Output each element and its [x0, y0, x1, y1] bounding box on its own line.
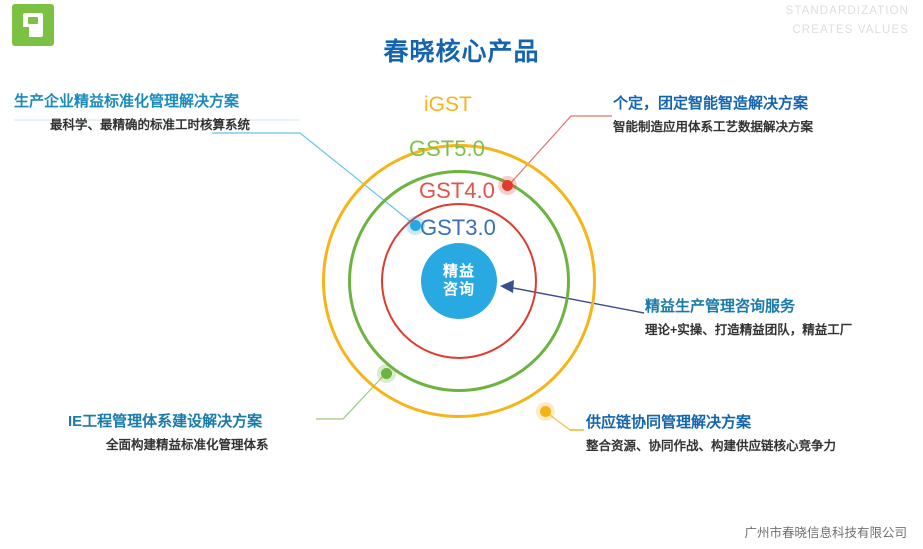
ring-label-gst4: GST4.0	[419, 178, 495, 204]
ring-label-igst: iGST	[424, 93, 472, 117]
callout-top-left[interactable]: 生产企业精益标准化管理解决方案 最科学、最精确的标准工时核算系统	[14, 92, 250, 135]
footer-company-name: 广州市春晓信息科技有限公司	[744, 522, 907, 541]
logo-p-counter	[28, 17, 38, 24]
callout-top-right[interactable]: 个定，团定智能智造解决方案 智能制造应用体系工艺数据解决方案	[613, 94, 813, 137]
ring-label-gst5: GST5.0	[409, 136, 485, 162]
watermark-line-1: STANDARDIZATION	[786, 2, 909, 21]
callout-bottom-right-subline: 整合资源、协同作战、构建供应链核心竞争力	[586, 436, 836, 456]
connector-dot-blue[interactable]	[410, 220, 421, 231]
ring-label-gst3: GST3.0	[420, 215, 496, 241]
connector-dot-yellow[interactable]	[540, 406, 551, 417]
core-circle-lean-consulting[interactable]: 精益 咨询	[421, 243, 497, 319]
core-label-line-2: 咨询	[443, 281, 475, 299]
callout-top-left-headline: 生产企业精益标准化管理解决方案	[14, 92, 250, 112]
callout-top-left-subline: 最科学、最精确的标准工时核算系统	[50, 115, 250, 135]
callout-top-right-headline: 个定，团定智能智造解决方案	[613, 94, 813, 114]
page-title: 春晓核心产品	[0, 32, 923, 68]
callout-middle-right-headline: 精益生产管理咨询服务	[645, 297, 852, 317]
callout-bottom-right-headline: 供应链协同管理解决方案	[586, 413, 836, 433]
core-label-line-1: 精益	[443, 263, 475, 281]
callout-bottom-left-subline: 全面构建精益标准化管理体系	[106, 435, 269, 455]
connector-dot-red[interactable]	[502, 180, 513, 191]
callout-top-right-subline: 智能制造应用体系工艺数据解决方案	[613, 117, 813, 137]
callout-middle-right-subline: 理论+实操、打造精益团队，精益工厂	[645, 320, 852, 340]
callout-middle-right[interactable]: 精益生产管理咨询服务 理论+实操、打造精益团队，精益工厂	[645, 297, 852, 340]
connector-dot-green[interactable]	[381, 368, 392, 379]
callout-bottom-left-headline: IE工程管理体系建设解决方案	[68, 412, 269, 432]
callout-bottom-left[interactable]: IE工程管理体系建设解决方案 全面构建精益标准化管理体系	[68, 412, 269, 455]
slide-canvas: STANDARDIZATION CREATES VALUES 春晓核心产品 精益…	[0, 0, 923, 549]
callout-bottom-right[interactable]: 供应链协同管理解决方案 整合资源、协同作战、构建供应链核心竞争力	[586, 413, 836, 456]
